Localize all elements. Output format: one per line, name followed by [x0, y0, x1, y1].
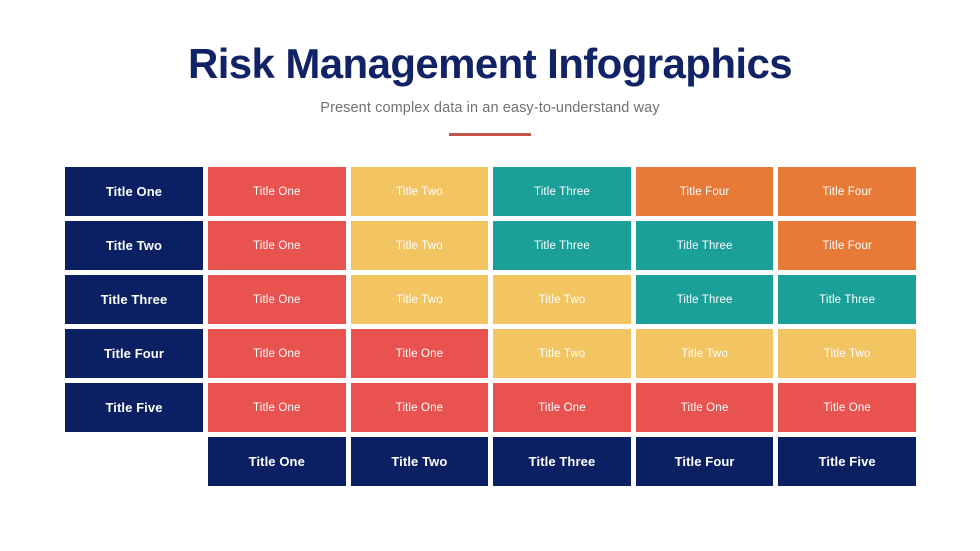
matrix-cell-orange[interactable]: Title Four [778, 221, 916, 270]
matrix-cell-red[interactable]: Title One [208, 275, 346, 324]
matrix-row-label[interactable]: Title Three [65, 275, 203, 324]
matrix-column-header[interactable]: Title Five [778, 437, 916, 486]
matrix-row: Title ThreeTitle OneTitle TwoTitle TwoTi… [65, 275, 916, 324]
matrix-cell-red[interactable]: Title One [778, 383, 916, 432]
matrix-cell-red[interactable]: Title One [351, 329, 489, 378]
matrix-cell-red[interactable]: Title One [351, 383, 489, 432]
matrix-cell-teal[interactable]: Title Three [636, 275, 774, 324]
page-title: Risk Management Infographics [0, 40, 980, 87]
risk-matrix: Title OneTitle OneTitle TwoTitle ThreeTi… [65, 167, 916, 486]
matrix-column-header[interactable]: Title Two [351, 437, 489, 486]
matrix-column-header[interactable]: Title Four [636, 437, 774, 486]
page-subtitle: Present complex data in an easy-to-under… [0, 100, 980, 116]
matrix-cell-red[interactable]: Title One [208, 167, 346, 216]
matrix-column-header[interactable]: Title One [208, 437, 346, 486]
matrix-cell-yellow[interactable]: Title Two [351, 275, 489, 324]
matrix-cell-teal[interactable]: Title Three [493, 167, 631, 216]
title-divider [449, 133, 531, 136]
matrix-row-label[interactable]: Title Two [65, 221, 203, 270]
matrix-cell-yellow[interactable]: Title Two [351, 221, 489, 270]
matrix-cell-yellow[interactable]: Title Two [778, 329, 916, 378]
matrix-row-label[interactable]: Title Five [65, 383, 203, 432]
matrix-row: Title OneTitle OneTitle TwoTitle ThreeTi… [65, 167, 916, 216]
matrix-cell-yellow[interactable]: Title Two [636, 329, 774, 378]
matrix-row: Title FourTitle OneTitle OneTitle TwoTit… [65, 329, 916, 378]
matrix-cell-red[interactable]: Title One [208, 329, 346, 378]
matrix-cell-yellow[interactable]: Title Two [493, 329, 631, 378]
matrix-cell-red[interactable]: Title One [208, 221, 346, 270]
matrix-column-header[interactable]: Title Three [493, 437, 631, 486]
matrix-cell-red[interactable]: Title One [636, 383, 774, 432]
matrix-cell-red[interactable]: Title One [208, 383, 346, 432]
matrix-cell-teal[interactable]: Title Three [493, 221, 631, 270]
slide-header: Risk Management Infographics Present com… [0, 40, 980, 136]
matrix-cell-orange[interactable]: Title Four [636, 167, 774, 216]
matrix-row: Title FiveTitle OneTitle OneTitle OneTit… [65, 383, 916, 432]
matrix-cell-teal[interactable]: Title Three [636, 221, 774, 270]
matrix-cell-red[interactable]: Title One [493, 383, 631, 432]
slide-canvas: Risk Management Infographics Present com… [0, 0, 980, 551]
matrix-row-label[interactable]: Title One [65, 167, 203, 216]
matrix-cell-orange[interactable]: Title Four [778, 167, 916, 216]
matrix-row: Title TwoTitle OneTitle TwoTitle ThreeTi… [65, 221, 916, 270]
matrix-cell-teal[interactable]: Title Three [778, 275, 916, 324]
matrix-row-label[interactable]: Title Four [65, 329, 203, 378]
matrix-footer-row: Title OneTitle TwoTitle ThreeTitle FourT… [65, 437, 916, 486]
matrix-cell-yellow[interactable]: Title Two [351, 167, 489, 216]
matrix-cell-yellow[interactable]: Title Two [493, 275, 631, 324]
matrix-corner-spacer [65, 437, 203, 486]
